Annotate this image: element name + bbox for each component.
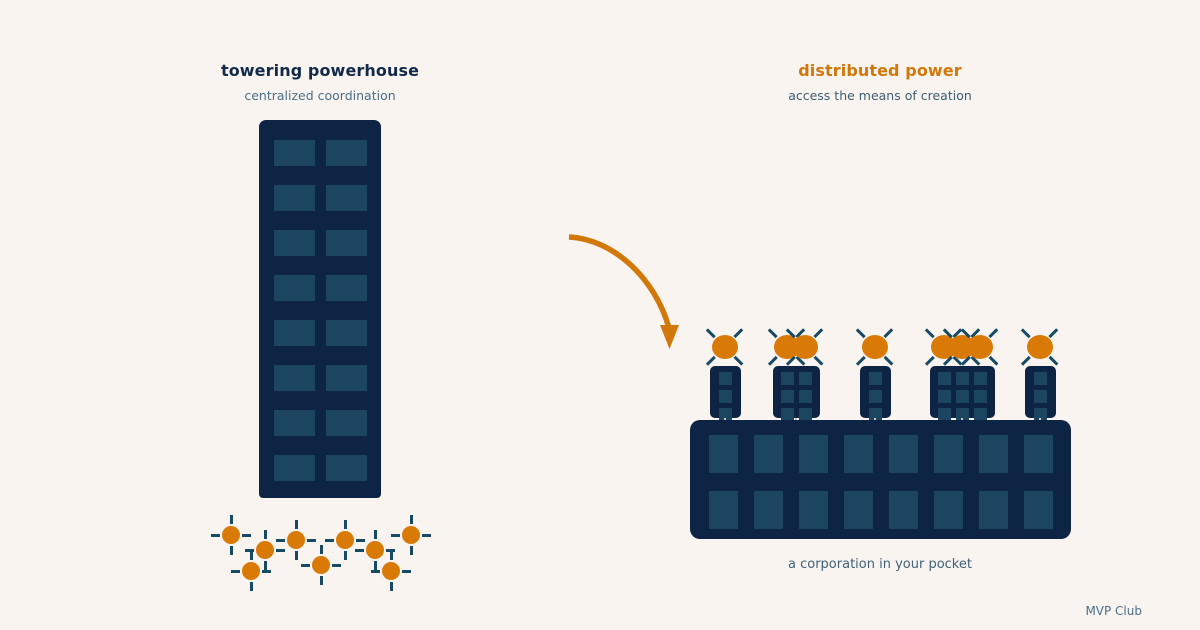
unit-window	[1034, 390, 1047, 403]
node-tick-west	[391, 534, 400, 537]
node-tick-south	[250, 582, 253, 591]
tower-window	[274, 185, 315, 211]
node-dot	[222, 526, 240, 544]
person-head	[862, 335, 888, 359]
node-tick-east	[307, 539, 316, 542]
node-tick-west	[325, 539, 334, 542]
node-tick-west	[355, 549, 364, 552]
node-tick-west	[211, 534, 220, 537]
tower-window	[326, 230, 367, 256]
tower-window	[326, 320, 367, 346]
person-ray	[734, 328, 744, 338]
left-panel-subtitle: centralized coordination	[110, 88, 530, 103]
base-window	[979, 491, 1008, 529]
unit-window	[956, 390, 969, 403]
node-tick-south	[390, 582, 393, 591]
unit-mini-building	[930, 366, 995, 418]
unit-window	[781, 372, 794, 385]
base-window	[799, 491, 828, 529]
node-dot	[382, 562, 400, 580]
base-window	[844, 491, 873, 529]
tower-window	[274, 365, 315, 391]
person-ray	[925, 328, 935, 338]
base-window	[934, 491, 963, 529]
unit-window	[799, 372, 812, 385]
node-dot	[366, 541, 384, 559]
unit-window	[719, 372, 732, 385]
node-tick-west	[371, 570, 380, 573]
base-caption: a corporation in your pocket	[670, 557, 1090, 572]
base-window	[889, 491, 918, 529]
right-panel-title: distributed power	[670, 61, 1090, 80]
base-window	[844, 435, 873, 473]
unit-window	[1034, 372, 1047, 385]
base-window	[709, 435, 738, 473]
person-ray	[1021, 356, 1031, 366]
left-panel-title: towering powerhouse	[110, 61, 530, 80]
node-tick-south	[230, 546, 233, 555]
node-tick-south	[295, 551, 298, 560]
node-tick-west	[301, 564, 310, 567]
unit-window	[938, 390, 951, 403]
node-tick-east	[242, 534, 251, 537]
tower-window	[274, 455, 315, 481]
unit-window	[974, 390, 987, 403]
base-window	[709, 491, 738, 529]
person-ray	[856, 328, 866, 338]
node-dot	[287, 531, 305, 549]
node-dot	[312, 556, 330, 574]
base-window	[799, 435, 828, 473]
node-tick-west	[276, 539, 285, 542]
unit-mini-building	[1025, 366, 1056, 418]
node-dot	[336, 531, 354, 549]
base-window	[1024, 491, 1053, 529]
node-tick-north	[250, 551, 253, 560]
node-tick-north	[295, 520, 298, 529]
centralized-tower	[259, 120, 381, 498]
node-tick-east	[422, 534, 431, 537]
tower-window	[274, 320, 315, 346]
unit-mini-building	[773, 366, 820, 418]
person-ray	[1049, 328, 1059, 338]
tower-window	[326, 185, 367, 211]
person-ray	[1049, 356, 1059, 366]
tower-window	[274, 275, 315, 301]
node-tick-east	[262, 570, 271, 573]
unit-mini-building	[710, 366, 741, 418]
node-tick-north	[410, 515, 413, 524]
footer-brand: MVP Club	[1085, 604, 1142, 618]
person-head	[712, 335, 738, 359]
node-tick-north	[264, 530, 267, 539]
tower-window	[326, 410, 367, 436]
unit-window	[974, 372, 987, 385]
unit-window	[719, 390, 732, 403]
person-ray	[768, 328, 778, 338]
node-tick-east	[276, 549, 285, 552]
person-head	[792, 335, 818, 359]
node-tick-south	[410, 546, 413, 555]
node-tick-north	[344, 520, 347, 529]
right-panel-subtitle: access the means of creation	[670, 88, 1090, 103]
person-ray	[706, 328, 716, 338]
person-ray	[989, 356, 999, 366]
unit-window	[956, 372, 969, 385]
person-head	[1027, 335, 1053, 359]
unit-mini-building	[860, 366, 891, 418]
base-window	[754, 435, 783, 473]
unit-window	[799, 390, 812, 403]
base-window	[889, 435, 918, 473]
node-tick-east	[356, 539, 365, 542]
base-window	[979, 435, 1008, 473]
node-tick-north	[390, 551, 393, 560]
unit-window	[869, 372, 882, 385]
base-window	[1024, 435, 1053, 473]
node-tick-north	[230, 515, 233, 524]
person-ray	[706, 356, 716, 366]
person-ray	[925, 356, 935, 366]
base-window	[754, 491, 783, 529]
tower-window	[326, 275, 367, 301]
tower-window	[274, 230, 315, 256]
node-dot	[256, 541, 274, 559]
tower-window	[274, 140, 315, 166]
tower-window	[326, 365, 367, 391]
node-tick-east	[332, 564, 341, 567]
person-ray	[734, 356, 744, 366]
node-tick-south	[344, 551, 347, 560]
unit-window	[781, 390, 794, 403]
node-tick-north	[320, 545, 323, 554]
tower-window	[326, 455, 367, 481]
base-window	[934, 435, 963, 473]
unit-window	[938, 372, 951, 385]
person-ray	[768, 356, 778, 366]
transition-arrow	[555, 220, 695, 365]
person-ray	[1021, 328, 1031, 338]
tower-window	[326, 140, 367, 166]
shared-base-platform	[690, 420, 1071, 539]
node-tick-north	[374, 530, 377, 539]
illustration-canvas: towering powerhouse centralized coordina…	[0, 0, 1200, 630]
person-ray	[856, 356, 866, 366]
person-ray	[814, 356, 824, 366]
node-dot	[242, 562, 260, 580]
person-ray	[884, 356, 894, 366]
person-head	[967, 335, 993, 359]
person-ray	[989, 328, 999, 338]
node-tick-east	[402, 570, 411, 573]
person-ray	[884, 328, 894, 338]
unit-window	[869, 390, 882, 403]
node-tick-south	[320, 576, 323, 585]
node-tick-west	[231, 570, 240, 573]
node-dot	[402, 526, 420, 544]
tower-window	[274, 410, 315, 436]
person-ray	[814, 328, 824, 338]
